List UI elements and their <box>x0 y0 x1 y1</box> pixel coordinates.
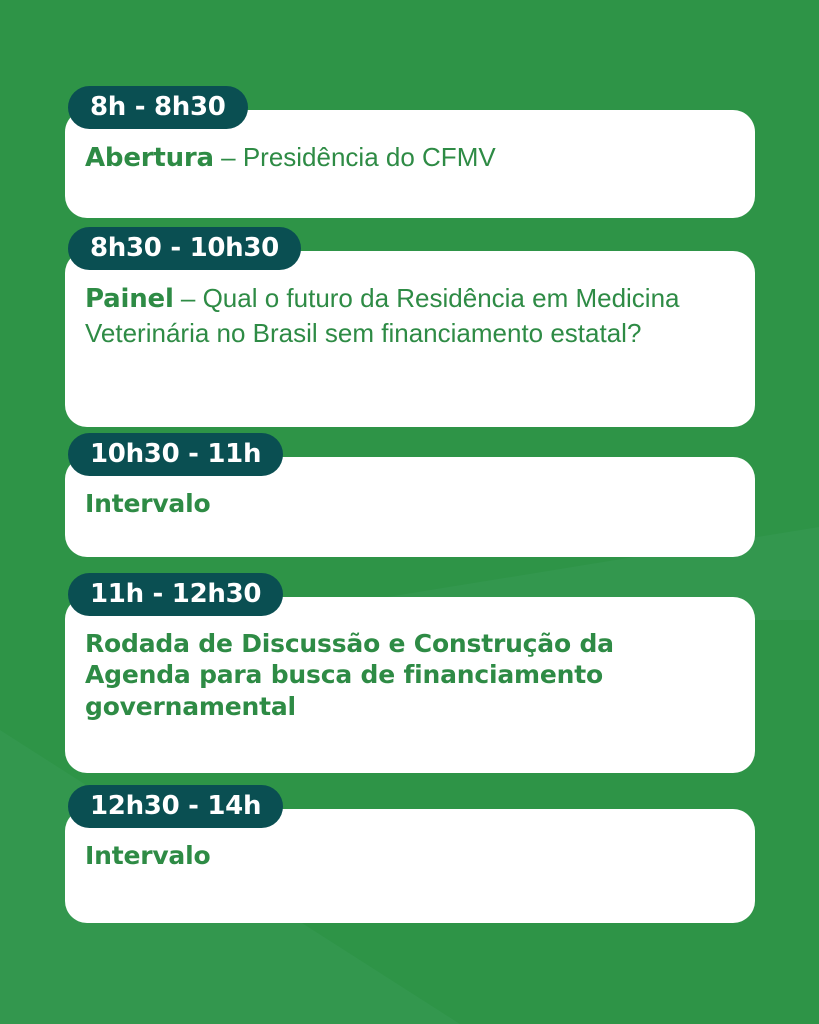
schedule-item: 11h - 12h30Rodada de Discussão e Constru… <box>65 573 755 742</box>
schedule-card-body: Intervalo <box>65 476 755 539</box>
session-title: Painel <box>85 284 174 314</box>
schedule-item: 8h30 - 10h30Painel – Qual o futuro da Re… <box>65 227 755 371</box>
schedule-item: 12h30 - 14hIntervalo <box>65 785 755 891</box>
session-detail: – Qual o futuro da Residência em Medicin… <box>85 283 680 348</box>
session-description: Painel – Qual o futuro da Residência em … <box>85 282 725 351</box>
schedule-card-body: Intervalo <box>65 828 755 891</box>
schedule-item: 10h30 - 11hIntervalo <box>65 433 755 539</box>
session-description: Rodada de Discussão e Construção da Agen… <box>85 628 725 722</box>
time-badge: 8h - 8h30 <box>68 86 248 129</box>
session-title: Intervalo <box>85 841 210 870</box>
time-badge: 11h - 12h30 <box>68 573 283 616</box>
time-badge: 12h30 - 14h <box>68 785 283 828</box>
session-title: Rodada de Discussão e Construção da Agen… <box>85 629 614 721</box>
session-description: Intervalo <box>85 840 725 871</box>
time-badge: 10h30 - 11h <box>68 433 283 476</box>
session-description: Intervalo <box>85 488 725 519</box>
schedule-card-body: Abertura – Presidência do CFMV <box>65 129 755 196</box>
schedule-card-body: Painel – Qual o futuro da Residência em … <box>65 270 755 371</box>
session-title: Intervalo <box>85 489 210 518</box>
time-badge: 8h30 - 10h30 <box>68 227 301 270</box>
session-description: Abertura – Presidência do CFMV <box>85 141 725 176</box>
session-detail: – Presidência do CFMV <box>214 142 496 172</box>
session-title: Abertura <box>85 143 214 173</box>
schedule-card-body: Rodada de Discussão e Construção da Agen… <box>65 616 755 742</box>
schedule-item: 8h - 8h30Abertura – Presidência do CFMV <box>65 86 755 196</box>
